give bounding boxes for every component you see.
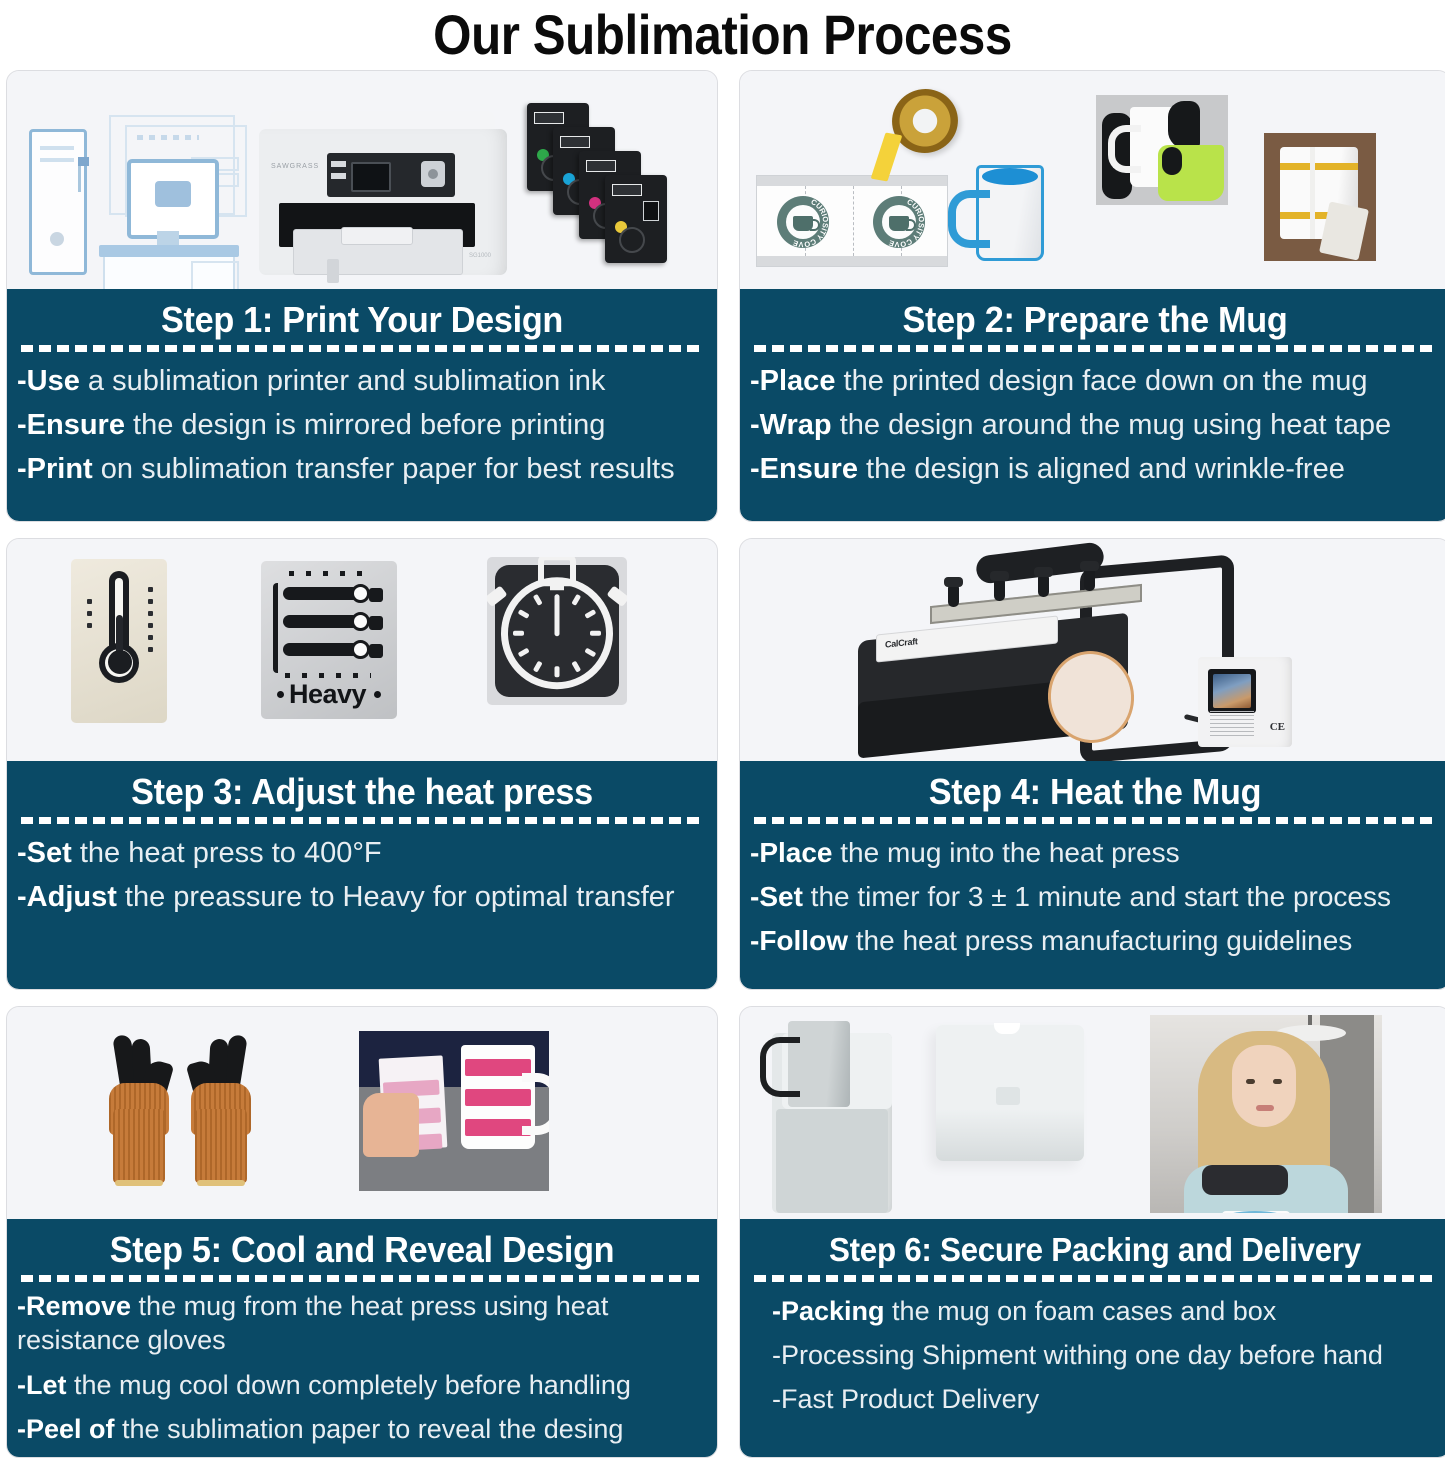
list-item: -Let the mug cool down completely before… (17, 1363, 707, 1407)
step-3-panel: Step 3: Adjust the heat press -Set the h… (7, 761, 717, 989)
foam-case-closed (936, 1025, 1084, 1161)
list-item: -Remove the mug from the heat press usin… (17, 1289, 707, 1357)
step-2-title: Step 2: Prepare the Mug (767, 299, 1423, 341)
curiosity-cove-logo: CURIOSITY COVE (873, 196, 925, 248)
step-4-panel: Step 4: Heat the Mug -Place the mug into… (740, 761, 1445, 989)
step-3-title: Step 3: Adjust the heat press (34, 771, 690, 813)
customer-holding-mug-photo (1150, 1015, 1382, 1213)
list-item: -Wrap the design around the mug using he… (750, 403, 1440, 447)
ce-mark: CE (1270, 721, 1285, 733)
step-5-media (7, 1007, 717, 1219)
svg-text:CURIOSITY COVE: CURIOSITY COVE (888, 197, 925, 248)
step-6-bullets: -Packing the mug on foam cases and box -… (750, 1289, 1440, 1421)
finished-mug (1222, 1211, 1290, 1213)
step-card-4: CalCraft CE Step 4: Heat the Mug -Place … (739, 538, 1445, 990)
step-1-bullets: -Use a sublimation printer and sublimati… (17, 359, 707, 491)
step-5-bullets: -Remove the mug from the heat press usin… (17, 1289, 707, 1451)
step-2-panel: Step 2: Prepare the Mug -Place the print… (740, 289, 1445, 521)
mug-heat-press-image: CalCraft CE (780, 539, 1340, 761)
list-item: -Packing the mug on foam cases and box (750, 1289, 1440, 1333)
list-item: -Ensure the design is aligned and wrinkl… (750, 447, 1440, 491)
heat-resistant-glove-right (189, 1035, 253, 1183)
step-1-title: Step 1: Print Your Design (34, 299, 690, 341)
svg-text:CURIOSITY COVE: CURIOSITY COVE (792, 197, 829, 248)
list-item: -Adjust the preassure to Heavy for optim… (17, 875, 707, 919)
step-4-media: CalCraft CE (740, 539, 1445, 761)
list-item: -Ensure the design is mirrored before pr… (17, 403, 707, 447)
step-card-2: CURIOSITY COVE CURIOSITY COVE (739, 70, 1445, 522)
sublimation-printer-image: SAWGRASS SG1000 (259, 111, 514, 289)
computer-desk-illustration (95, 111, 245, 281)
list-item: -Place the printed design face down on t… (750, 359, 1440, 403)
stopwatch-icon (487, 557, 627, 705)
list-item: -Fast Product Delivery (750, 1377, 1440, 1421)
pressure-heavy-icon: Heavy (261, 561, 397, 719)
heavy-label: Heavy (289, 679, 366, 710)
list-item: -Set the timer for 3 ± 1 minute and star… (750, 875, 1440, 919)
list-item: -Processing Shipment withing one day bef… (750, 1333, 1440, 1377)
step-2-media: CURIOSITY COVE CURIOSITY COVE (740, 71, 1445, 289)
step-card-3: Heavy (6, 538, 718, 990)
dashed-divider (21, 1275, 703, 1282)
dashed-divider (21, 345, 703, 352)
printer-model-label: SG1000 (469, 253, 491, 259)
step-card-5: Step 5: Cool and Reveal Design -Remove t… (6, 1006, 718, 1458)
step-card-1: SAWGRASS SG1000 (6, 70, 718, 522)
step-4-bullets: -Place the mug into the heat press -Set … (750, 831, 1440, 963)
hand (363, 1093, 419, 1157)
dashed-divider (754, 817, 1436, 824)
heat-resistant-glove-left (107, 1035, 171, 1183)
page-title: Our Sublimation Process (87, 0, 1359, 66)
step-1-media: SAWGRASS SG1000 (7, 71, 717, 289)
steps-grid: SAWGRASS SG1000 (0, 70, 1445, 1458)
step-6-title: Step 6: Secure Packing and Delivery (767, 1229, 1423, 1271)
thermometer-icon (71, 559, 167, 723)
list-item: -Place the mug into the heat press (750, 831, 1440, 875)
step-4-title: Step 4: Heat the Mug (767, 771, 1423, 813)
step-2-bullets: -Place the printed design face down on t… (750, 359, 1440, 491)
curiosity-cove-logo: CURIOSITY COVE (777, 196, 829, 248)
dashed-divider (754, 1275, 1436, 1282)
foam-case-open (748, 1011, 918, 1215)
step-card-6: Step 6: Secure Packing and Delivery -Pac… (739, 1006, 1445, 1458)
list-item: -Print on sublimation transfer paper for… (17, 447, 707, 491)
list-item: -Peel of the sublimation paper to reveal… (17, 1407, 707, 1451)
blue-sublimation-mug (976, 165, 1044, 261)
step-5-panel: Step 5: Cool and Reveal Design -Remove t… (7, 1219, 717, 1458)
step-3-media: Heavy (7, 539, 717, 761)
step-5-title: Step 5: Cool and Reveal Design (34, 1229, 690, 1271)
printed-transfer-sheet: CURIOSITY COVE CURIOSITY COVE (756, 175, 948, 267)
infographic-page: Our Sublimation Process (0, 0, 1445, 1447)
step-6-media (740, 1007, 1445, 1219)
peel-paper-mug-photo (359, 1031, 549, 1191)
taped-mug-photo (1264, 133, 1376, 261)
list-item: -Use a sublimation printer and sublimati… (17, 359, 707, 403)
step-1-panel: Step 1: Print Your Design -Use a sublima… (7, 289, 717, 521)
printer-brand-label: SAWGRASS (271, 163, 319, 170)
printed-mug (461, 1045, 535, 1149)
list-item: -Follow the heat press manufacturing gui… (750, 919, 1440, 963)
dashed-divider (21, 817, 703, 824)
gloved-hands-mug-photo (1096, 95, 1228, 205)
list-item: -Set the heat press to 400°F (17, 831, 707, 875)
step-6-panel: Step 6: Secure Packing and Delivery -Pac… (740, 1219, 1445, 1457)
step-3-bullets: -Set the heat press to 400°F -Adjust the… (17, 831, 707, 919)
computer-tower-icon (29, 129, 87, 275)
dashed-divider (754, 345, 1436, 352)
